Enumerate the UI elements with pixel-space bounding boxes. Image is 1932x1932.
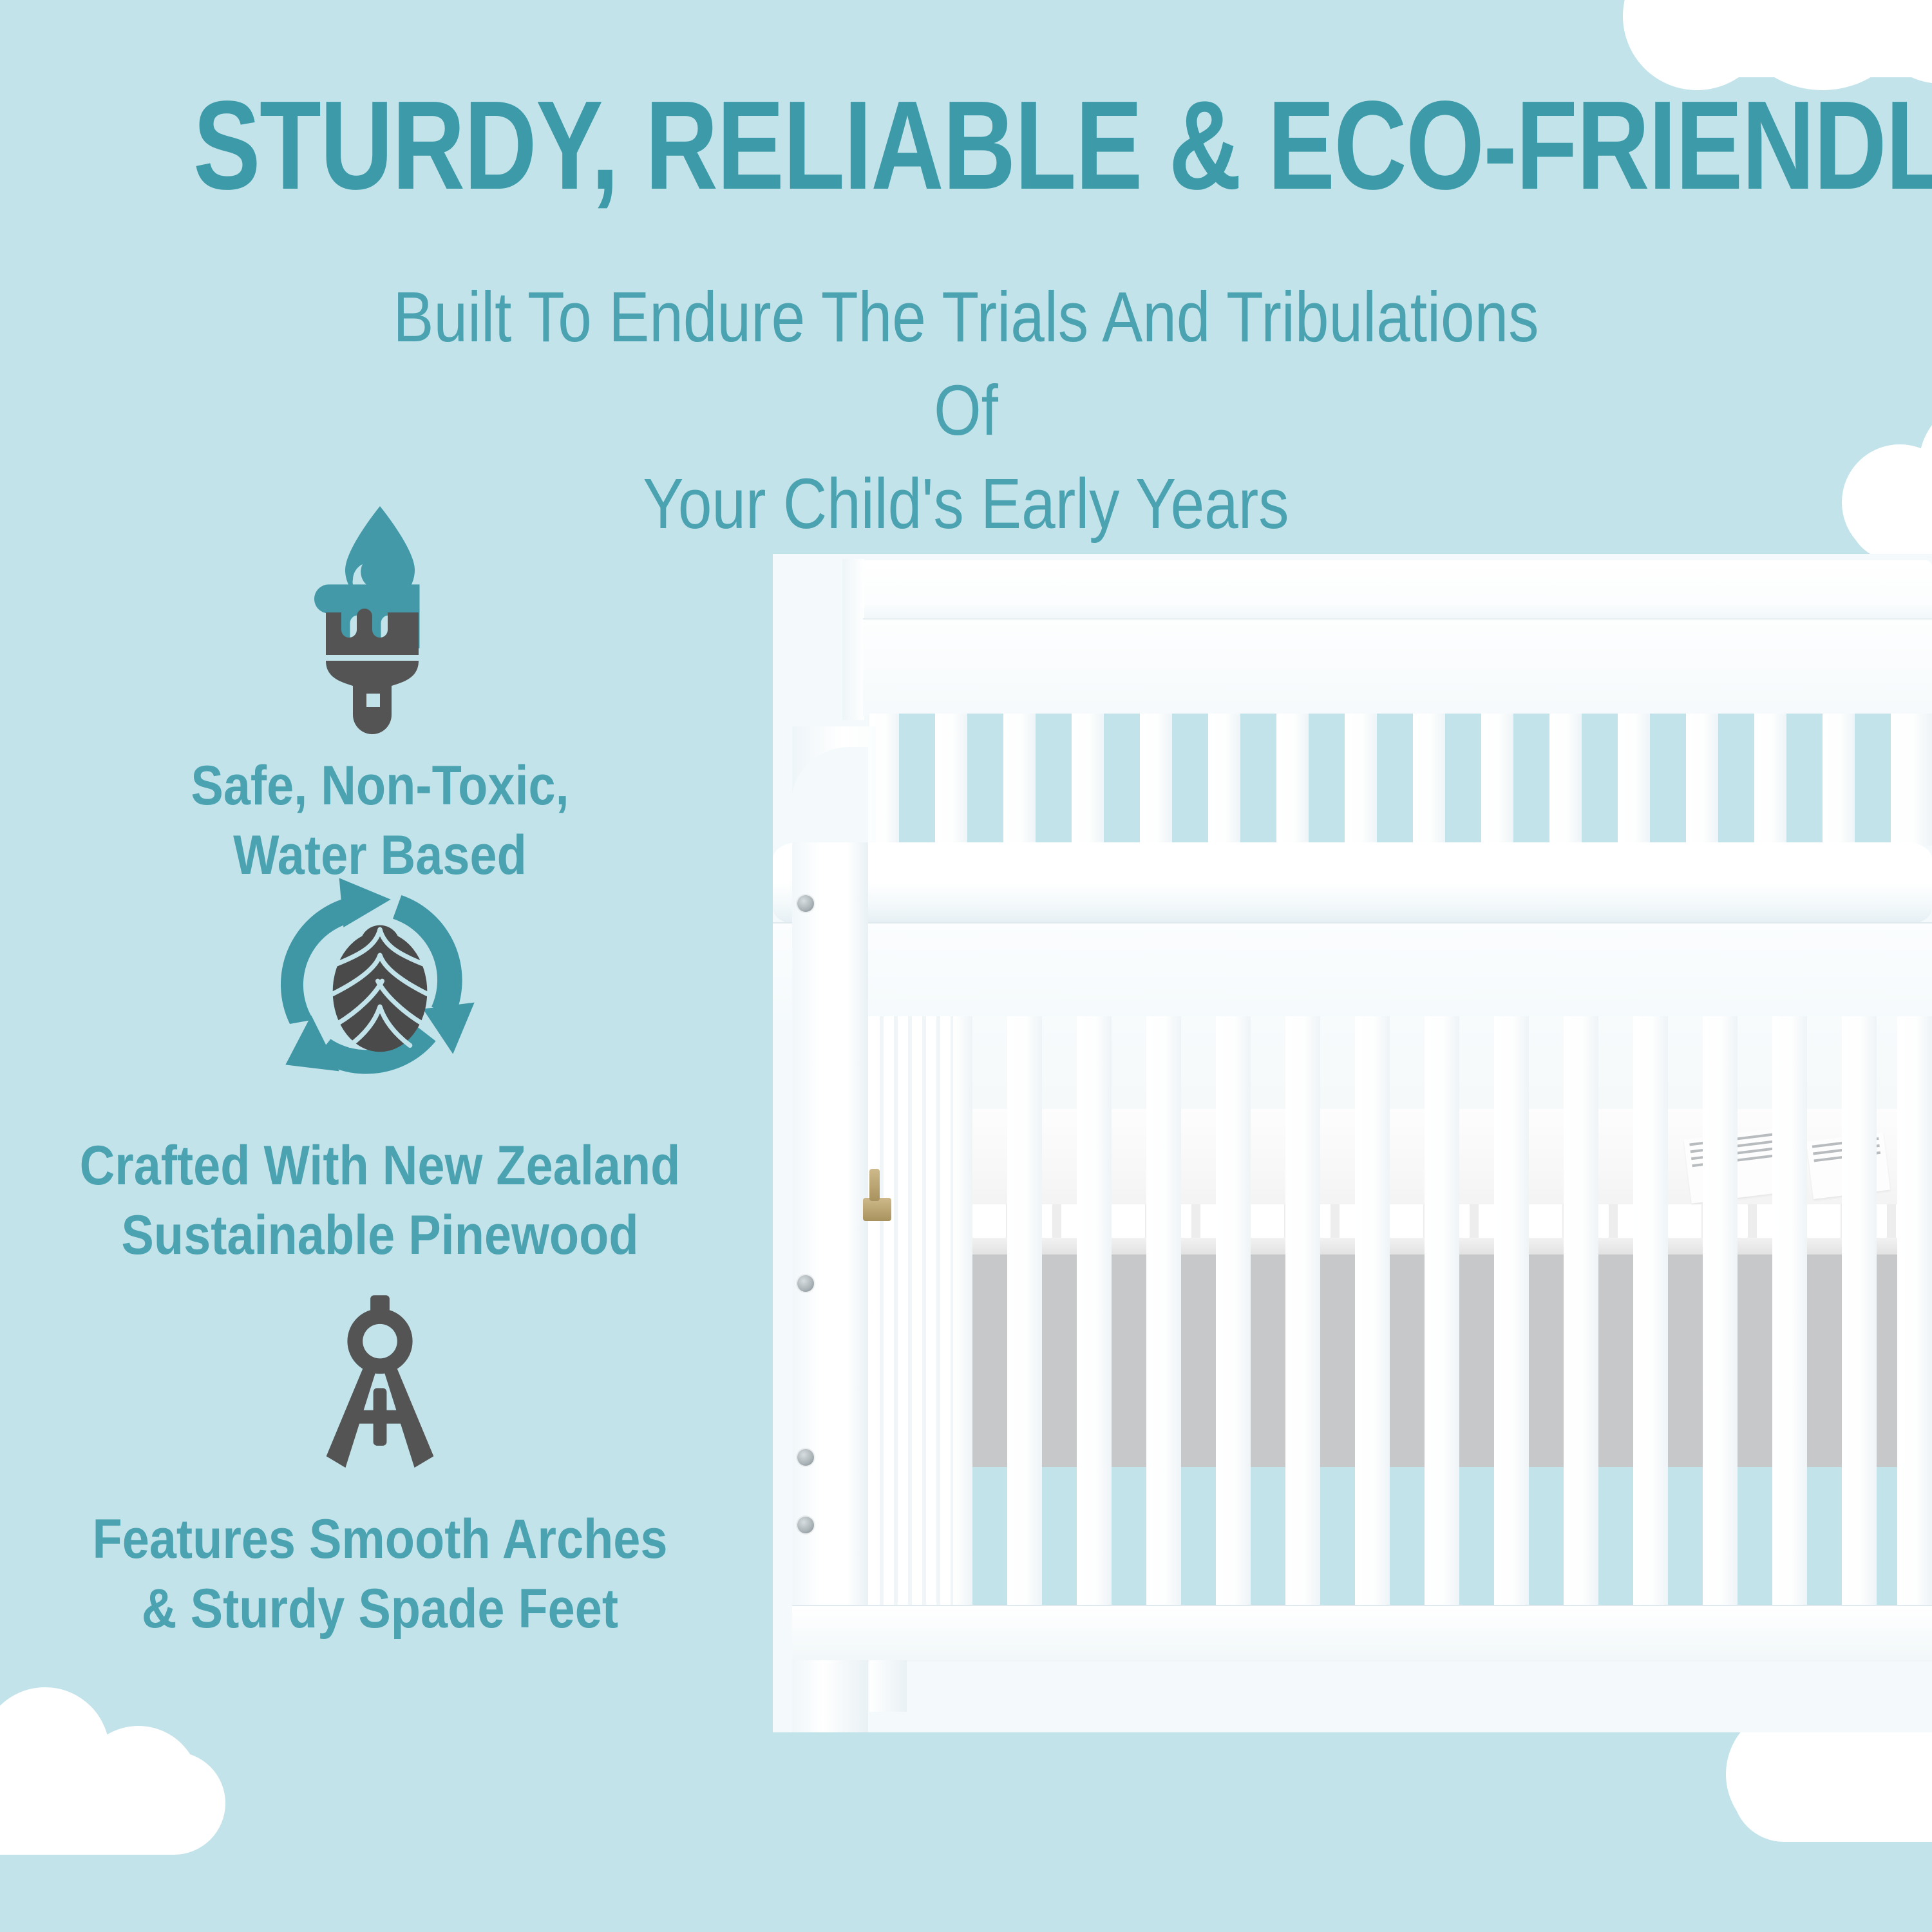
feature-caption-line-2: & Sturdy Spade Feet	[46, 1574, 714, 1643]
feature-item-smooth-arches: Features Smooth Arches & Sturdy Spade Fe…	[0, 1275, 760, 1636]
crib-headboard-panel	[863, 618, 1932, 716]
crib-post-screw-mid	[797, 1275, 814, 1292]
feature-item-non-toxic-paint: Safe, Non-Toxic, Water Based	[0, 496, 760, 857]
feature-caption-line-1: Safe, Non-Toxic,	[46, 751, 714, 820]
crib-headboard-left-edge	[842, 559, 864, 720]
feature-caption-line-1: Crafted With New Zealand	[46, 1131, 714, 1200]
crib-mattress-bracket-pin	[869, 1169, 880, 1201]
drafting-compass-icon	[299, 1294, 460, 1488]
feature-item-sustainable-pinewood: Crafted With New Zealand Sustainable Pin…	[0, 857, 760, 1275]
crib-post-screw-bottom	[797, 1517, 814, 1533]
recycle-pinecone-icon	[251, 869, 509, 1114]
crib-spade-foot-left	[792, 1660, 868, 1732]
feature-caption: Features Smooth Arches & Sturdy Spade Fe…	[46, 1504, 714, 1644]
feature-caption: Crafted With New Zealand Sustainable Pin…	[46, 1131, 714, 1271]
crib-top-rail-apron	[773, 922, 1932, 1020]
crib-mattress-bracket	[863, 1198, 891, 1221]
subheadline-line-1: Built To Endure The Trials And Tribulati…	[368, 270, 1564, 457]
feature-caption-line-1: Features Smooth Arches	[46, 1504, 714, 1574]
page-headline: STURDY, RELIABLE & ECO-FRIENDLY	[193, 82, 1739, 209]
crib-headboard-top-cap	[844, 560, 1932, 622]
crib-main-slat-band	[868, 1016, 1932, 1660]
feature-list: Safe, Non-Toxic, Water Based	[0, 496, 760, 1636]
crib-post-screw-top	[797, 895, 814, 912]
crib-bottom-rail	[792, 1605, 1932, 1662]
crib-top-rail	[773, 842, 1932, 925]
product-photo-crib	[773, 554, 1932, 1732]
crib-spade-foot-inner	[869, 1660, 907, 1712]
crib-post-screw-low	[797, 1449, 814, 1466]
infographic-canvas: STURDY, RELIABLE & ECO-FRIENDLY Built To…	[0, 0, 1932, 1932]
cloud-bottom-left	[0, 1687, 290, 1900]
paintbrush-water-drop-icon	[283, 502, 477, 734]
crib-upper-slat-band	[869, 714, 1932, 846]
feature-caption-line-2: Sustainable Pinewood	[46, 1200, 714, 1270]
crib-inner-side-slats	[869, 1016, 953, 1634]
